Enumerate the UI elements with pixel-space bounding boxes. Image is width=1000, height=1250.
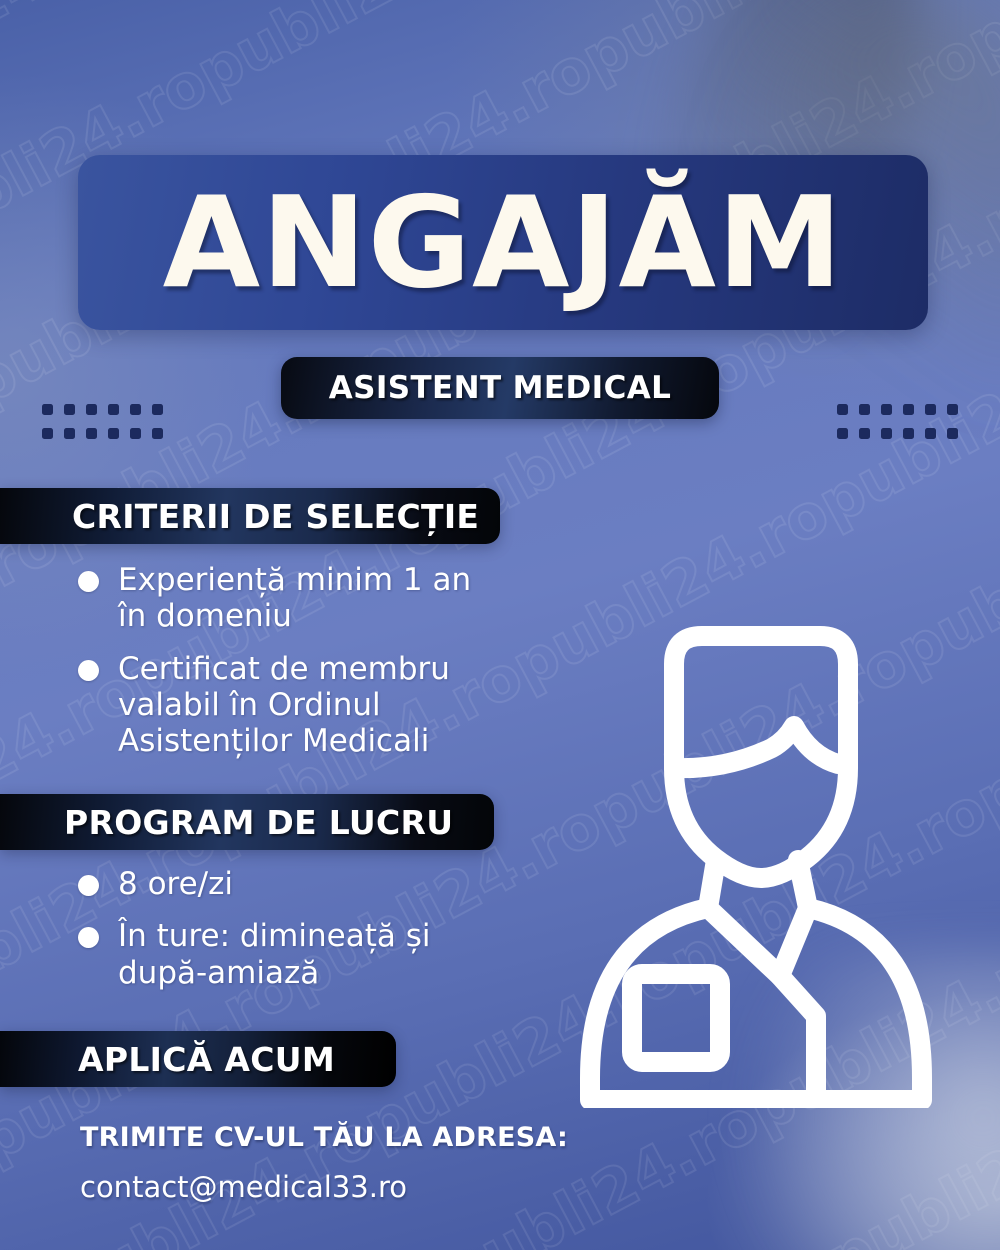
dot — [925, 428, 936, 439]
dot — [42, 404, 53, 415]
apply-instruction: TRIMITE CV-UL TĂU LA ADRESA: — [80, 1122, 568, 1153]
dot — [130, 428, 141, 439]
job-poster: publi24.ro publi24.ro publi24.ro publi24… — [0, 0, 1000, 1250]
criteria-list: Experiență minim 1 an în domeniu Certifi… — [78, 562, 508, 775]
section-heading-schedule: PROGRAM DE LUCRU — [0, 794, 494, 850]
dot — [86, 404, 97, 415]
dot — [108, 404, 119, 415]
dot — [837, 428, 848, 439]
nurse-icon — [556, 578, 956, 1108]
dot — [947, 404, 958, 415]
dot — [903, 428, 914, 439]
dot — [881, 428, 892, 439]
dot — [903, 404, 914, 415]
section-heading-label: APLICĂ ACUM — [78, 1040, 335, 1079]
dot — [859, 428, 870, 439]
bullet-icon — [78, 571, 99, 592]
dot — [86, 428, 97, 439]
job-role-badge: ASISTENT MEDICAL — [281, 357, 719, 419]
dot — [42, 428, 53, 439]
dot — [152, 404, 163, 415]
bullet-icon — [78, 660, 99, 681]
dot — [64, 404, 75, 415]
list-item-label: Certificat de membru valabil în Ordinul … — [118, 651, 508, 760]
list-item: Certificat de membru valabil în Ordinul … — [78, 651, 508, 760]
dot — [881, 404, 892, 415]
dot — [859, 404, 870, 415]
section-heading-label: CRITERII DE SELECȚIE — [72, 497, 479, 536]
bullet-icon — [78, 875, 99, 896]
dot — [130, 404, 141, 415]
list-item-label: În ture: dimineață și după-amiază — [118, 918, 478, 991]
page-title: ANGAJĂM — [163, 180, 844, 306]
poster-title-plate: ANGAJĂM — [78, 155, 928, 330]
list-item-label: Experiență minim 1 an în domeniu — [118, 562, 508, 635]
dot — [64, 428, 75, 439]
dot-decoration-right — [837, 404, 958, 439]
schedule-list: 8 ore/zi În ture: dimineață și după-amia… — [78, 866, 478, 1007]
dot — [152, 428, 163, 439]
dot — [925, 404, 936, 415]
contact-email[interactable]: contact@medical33.ro — [80, 1170, 407, 1204]
section-heading-label: PROGRAM DE LUCRU — [64, 803, 453, 842]
list-item-label: 8 ore/zi — [118, 866, 233, 902]
dot-decoration-left — [42, 404, 163, 439]
list-item: Experiență minim 1 an în domeniu — [78, 562, 508, 635]
job-role-label: ASISTENT MEDICAL — [329, 370, 672, 406]
dot — [947, 428, 958, 439]
dot — [108, 428, 119, 439]
list-item: 8 ore/zi — [78, 866, 478, 902]
dot — [837, 404, 848, 415]
section-heading-criteria: CRITERII DE SELECȚIE — [0, 488, 500, 544]
section-heading-apply: APLICĂ ACUM — [0, 1031, 396, 1087]
list-item: În ture: dimineață și după-amiază — [78, 918, 478, 991]
bullet-icon — [78, 927, 99, 948]
